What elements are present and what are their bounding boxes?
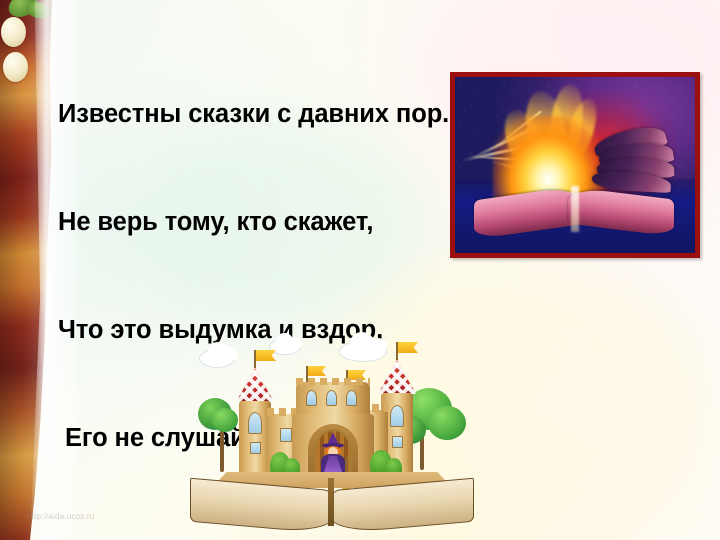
tower-window [250, 442, 261, 454]
cloud-icon [200, 350, 234, 367]
cloud-icon [340, 342, 386, 361]
keep-window [346, 390, 357, 406]
poem-line: Известны сказки с давних пор. [58, 96, 458, 132]
slide-canvas: Известны сказки с давних пор. Не верь то… [0, 0, 720, 540]
watermark-url: http://aida.ucoz.ru [27, 512, 94, 521]
book-spine [328, 478, 334, 526]
tower-roof [378, 360, 416, 394]
tower-window [390, 405, 404, 427]
background-wash-ivory [470, 300, 720, 540]
flag-pole [254, 350, 256, 368]
keep-window [326, 390, 337, 406]
tower-window [392, 436, 403, 448]
ribbon-shading [0, 0, 52, 540]
castle-popup-book-image [182, 332, 482, 538]
keep-battlement [296, 378, 370, 385]
tree-trunk [220, 428, 224, 472]
flag-icon [398, 342, 418, 353]
flag-icon [256, 350, 276, 361]
keep-window [306, 390, 317, 406]
poem-line: Не верь тому, кто скажет, [58, 204, 458, 240]
tower-window [248, 412, 262, 434]
tree-foliage [212, 408, 238, 432]
pearl-decoration-icon [3, 52, 28, 82]
flag-pole [396, 342, 398, 360]
magic-open-book-image [450, 72, 700, 258]
cloud-icon [270, 340, 300, 354]
decorative-left-border [0, 0, 52, 540]
book-spine [571, 186, 578, 232]
tower-roof [236, 368, 274, 402]
flag-icon [308, 366, 326, 376]
wall-window [280, 428, 292, 442]
pearl-decoration-icon [1, 17, 26, 47]
tree-foliage [428, 406, 466, 440]
